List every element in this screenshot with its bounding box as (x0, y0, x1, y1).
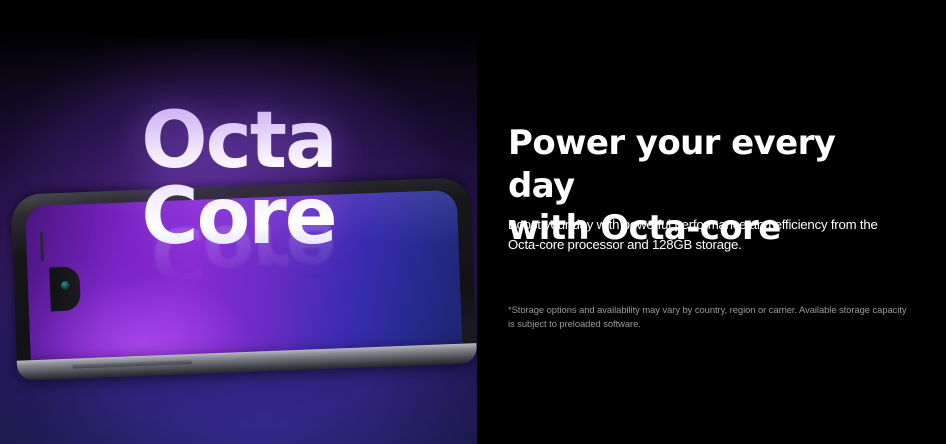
phone-screen: Core (25, 190, 463, 370)
body-description: Boost your day with powerful performance… (508, 215, 906, 256)
product-visual-panel: Octa Core Core (0, 0, 477, 444)
screen-glare (25, 190, 463, 370)
smartphone-device: Core (10, 177, 477, 391)
storage-disclaimer: *Storage options and availability may va… (508, 303, 908, 331)
headline-line-1: Power your every day (508, 122, 908, 207)
octa-core-promo-banner: Octa Core Core Power your every day with… (0, 0, 946, 444)
marketing-copy-panel: Power your every day with Octa-core Boos… (477, 0, 946, 444)
screen-text-reflection: Core (25, 192, 460, 295)
phone-bezel-frame: Core (10, 177, 476, 371)
